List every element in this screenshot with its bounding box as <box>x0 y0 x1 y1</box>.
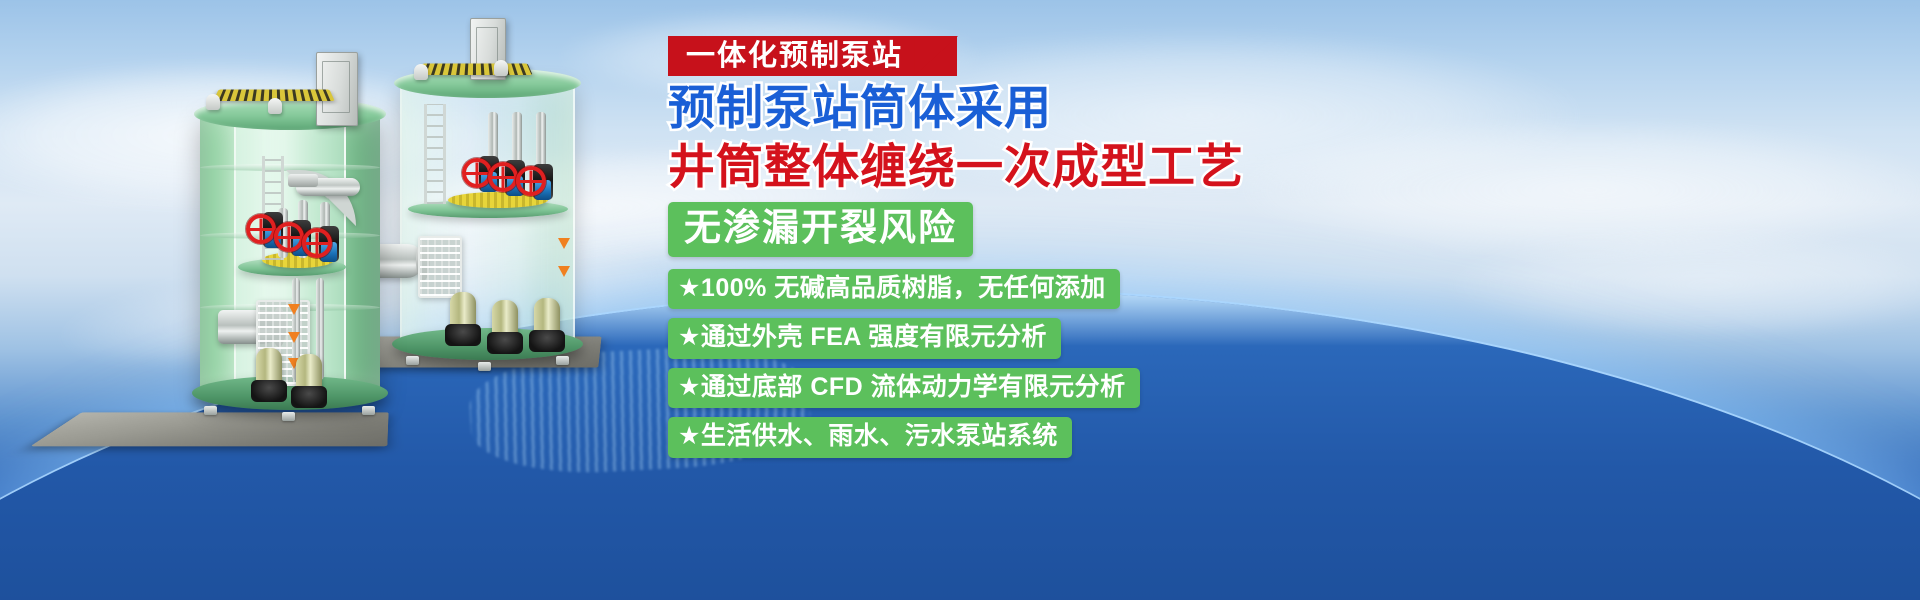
concrete-pad-left <box>30 412 388 446</box>
gate-valve <box>312 222 346 266</box>
product-banner: 一体化预制泵站 预制泵站筒体采用 井筒整体缠绕一次成型工艺 无渗漏开裂风险 ★1… <box>0 0 1920 600</box>
valve-handwheel-icon <box>274 222 304 252</box>
headline-line-2: 井筒整体缠绕一次成型工艺 <box>668 141 1828 194</box>
submersible-pump <box>256 348 282 400</box>
anchor-bolt <box>362 406 375 415</box>
flow-arrow-icon <box>558 238 570 249</box>
flow-arrow-icon <box>288 332 300 343</box>
anchor-bolt <box>478 362 491 371</box>
feature-bullet-list: ★100% 无碱高品质树脂，无任何添加 ★通过外壳 FEA 强度有限元分析 ★通… <box>668 269 1828 467</box>
valve-handwheel-icon <box>488 162 518 192</box>
pump-motor <box>450 292 476 328</box>
submersible-pump <box>296 354 322 406</box>
valve-handwheel-icon <box>302 228 332 258</box>
feature-bullet-1: ★100% 无碱高品质树脂，无任何添加 <box>668 269 1120 310</box>
pump-motor <box>492 300 518 336</box>
top-access-grate <box>417 63 532 75</box>
list-item: ★生活供水、雨水、污水泵站系统 <box>668 417 1828 467</box>
gate-valve <box>526 160 560 204</box>
flow-arrow-icon <box>288 304 300 315</box>
submersible-pump <box>450 292 476 344</box>
ribbon-label: 一体化预制泵站 <box>686 40 903 72</box>
feature-bullet-2: ★通过外壳 FEA 强度有限元分析 <box>668 318 1061 359</box>
marketing-copy-block: 一体化预制泵站 预制泵站筒体采用 井筒整体缠绕一次成型工艺 无渗漏开裂风险 ★1… <box>668 36 1828 576</box>
product-illustration <box>0 0 680 600</box>
anchor-bolt <box>406 356 419 365</box>
pipe-flange <box>288 174 318 187</box>
vent-cap <box>268 98 282 114</box>
pump-base <box>529 330 565 352</box>
flow-arrow-icon <box>558 266 570 277</box>
submersible-pump <box>492 300 518 352</box>
pump-station-unit-right <box>400 60 575 350</box>
anchor-bolt <box>282 412 295 421</box>
pump-station-unit-left <box>200 92 380 400</box>
access-ladder <box>424 104 446 204</box>
valve-handwheel-icon <box>246 214 276 244</box>
feature-bullet-3: ★通过底部 CFD 流体动力学有限元分析 <box>668 368 1140 409</box>
pump-motor <box>296 354 322 390</box>
valve-handwheel-icon <box>516 166 546 196</box>
pump-motor <box>256 348 282 384</box>
headline-line-1: 预制泵站筒体采用 <box>668 82 1828 135</box>
list-item: ★通过外壳 FEA 强度有限元分析 <box>668 318 1828 368</box>
pump-base <box>445 324 481 346</box>
pump-base <box>251 380 287 402</box>
feature-bullet-4: ★生活供水、雨水、污水泵站系统 <box>668 417 1072 458</box>
pump-base <box>291 386 327 408</box>
pump-motor <box>534 298 560 334</box>
list-item: ★通过底部 CFD 流体动力学有限元分析 <box>668 368 1828 418</box>
anchor-bolt <box>204 406 217 415</box>
ribbon-tag: 一体化预制泵站 <box>668 36 957 76</box>
debris-basket <box>418 236 462 298</box>
highlight-badge: 无渗漏开裂风险 <box>668 202 973 256</box>
vent-cap <box>494 60 508 76</box>
submersible-pump <box>534 298 560 350</box>
vent-cap <box>414 64 428 80</box>
pump-base <box>487 332 523 354</box>
vent-cap <box>206 94 220 110</box>
list-item: ★100% 无碱高品质树脂，无任何添加 <box>668 269 1828 319</box>
anchor-bolt <box>556 356 569 365</box>
